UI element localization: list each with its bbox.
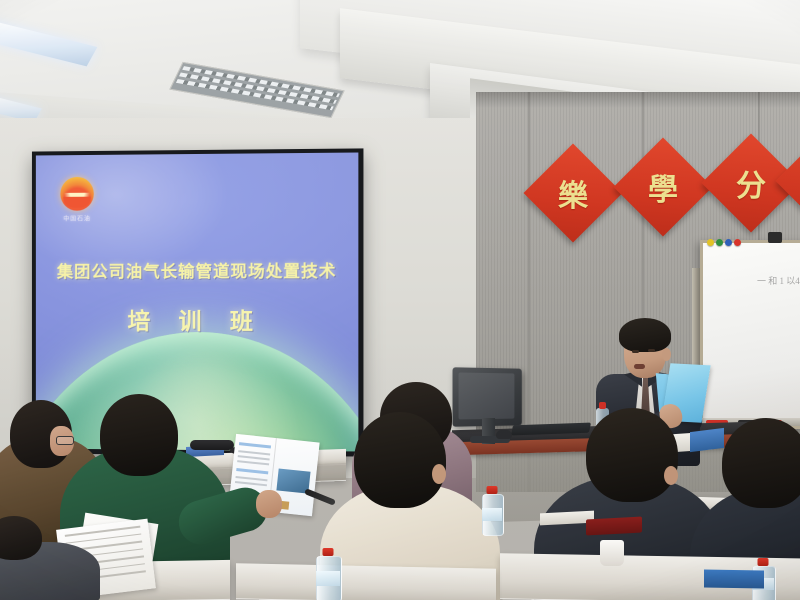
presenter-ear [662, 348, 671, 361]
attendee-head [586, 408, 678, 502]
attendee-head [0, 516, 42, 560]
blue-folder [704, 569, 764, 588]
attendee-head [722, 418, 800, 508]
water-bottle [316, 556, 340, 600]
whiteboard-clip [768, 232, 782, 243]
conference-room-photo: 中国石油 集团公司油气长输管道现场处置技术 培 训 班 樂 學 分 享 一 和 … [0, 0, 800, 600]
whiteboard: 一 和 1 以4 [700, 240, 800, 429]
attendee-ear [664, 466, 678, 485]
calligraphy-glyph: 樂 [538, 158, 608, 228]
presenter-mouth [634, 364, 645, 369]
red-diamond-calligraphy: 學 [614, 138, 713, 237]
classroom-table [236, 563, 496, 600]
red-diamond-calligraphy: 樂 [524, 144, 623, 243]
calligraphy-glyph: 分 [716, 148, 786, 218]
red-notebook [586, 517, 642, 536]
calligraphy-glyph: 學 [628, 152, 698, 222]
whiteboard-handwriting: 一 和 1 以4 [757, 275, 800, 288]
attendee-head [354, 412, 446, 508]
wall-shadow [476, 92, 800, 108]
presenter-hair [619, 318, 671, 352]
calligraphy-glyph: 享 [790, 146, 800, 216]
magnet-row [707, 239, 741, 246]
attendee-hand [256, 490, 282, 518]
water-bottle [482, 494, 502, 534]
attendee-ear [432, 464, 446, 484]
attendee-foreground-left [0, 0, 220, 600]
paper-cup [600, 540, 624, 566]
